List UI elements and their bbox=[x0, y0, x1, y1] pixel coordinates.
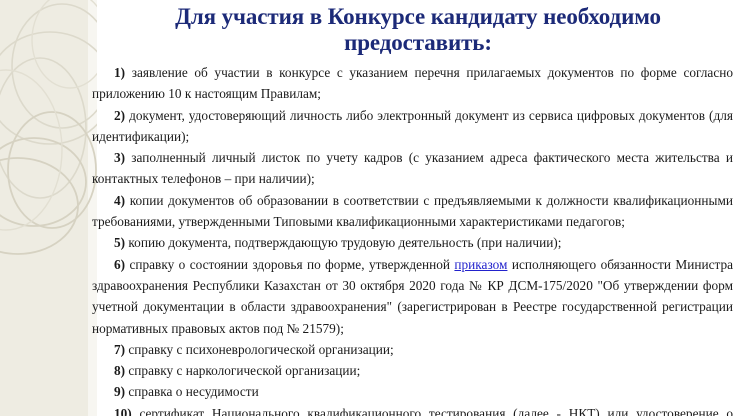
list-item-text: заполненный личный листок по учету кадро… bbox=[92, 150, 733, 186]
list-item-text: справку с наркологической организации; bbox=[125, 363, 360, 378]
list-item: 4) копии документов об образовании в соо… bbox=[92, 190, 733, 233]
list-item: 2) документ, удостоверяющий личность либ… bbox=[92, 105, 733, 148]
list-item-text: копии документов об образовании в соотве… bbox=[92, 193, 733, 229]
order-document-link[interactable]: приказом bbox=[454, 257, 507, 272]
list-item-text: справка о несудимости bbox=[125, 384, 259, 399]
list-item: 1) заявление об участии в конкурсе с ука… bbox=[92, 62, 733, 105]
page-title: Для участия в Конкурсе кандидату необход… bbox=[97, 4, 739, 56]
list-item: 5) копию документа, подтверждающую трудо… bbox=[92, 232, 733, 253]
list-item-text: документ, удостоверяющий личность либо э… bbox=[92, 108, 733, 144]
list-item-number: 7) bbox=[114, 342, 125, 357]
list-item: 3) заполненный личный листок по учету ка… bbox=[92, 147, 733, 190]
page-title-line-1: Для участия в Конкурсе кандидату необход… bbox=[97, 4, 739, 30]
page-title-line-2: предоставить: bbox=[97, 30, 739, 56]
list-item-number: 1) bbox=[114, 65, 125, 80]
list-item-text-before-link: справку о состоянии здоровья по форме, у… bbox=[125, 257, 454, 272]
list-item: 6) справку о состоянии здоровья по форме… bbox=[92, 254, 733, 339]
decorative-left-band bbox=[0, 0, 97, 416]
list-item-number: 6) bbox=[114, 257, 125, 272]
decor-swirl-icon bbox=[0, 0, 97, 416]
list-item-text: заявление об участии в конкурсе с указан… bbox=[92, 65, 733, 101]
requirements-list: 1) заявление об участии в конкурсе с ука… bbox=[92, 62, 733, 416]
decor-band-fill bbox=[0, 0, 88, 416]
list-item-text: сертификат Национального квалификационно… bbox=[92, 406, 733, 416]
list-item-number: 5) bbox=[114, 235, 125, 250]
list-item-number: 4) bbox=[114, 193, 125, 208]
list-item-number: 3) bbox=[114, 150, 125, 165]
list-item-number: 9) bbox=[114, 384, 125, 399]
list-item-number: 10) bbox=[114, 406, 132, 416]
list-item: 8) справку с наркологической организации… bbox=[92, 360, 733, 381]
slide-canvas: Для участия в Конкурсе кандидату необход… bbox=[0, 0, 739, 416]
list-item-number: 2) bbox=[114, 108, 125, 123]
list-item-text: копию документа, подтверждающую трудовую… bbox=[125, 235, 561, 250]
list-item: 7) справку с психоневрологической органи… bbox=[92, 339, 733, 360]
list-item-number: 8) bbox=[114, 363, 125, 378]
list-item-text: справку с психоневрологической организац… bbox=[125, 342, 394, 357]
list-item: 10) сертификат Национального квалификаци… bbox=[92, 403, 733, 416]
list-item: 9) справка о несудимости bbox=[92, 381, 733, 402]
